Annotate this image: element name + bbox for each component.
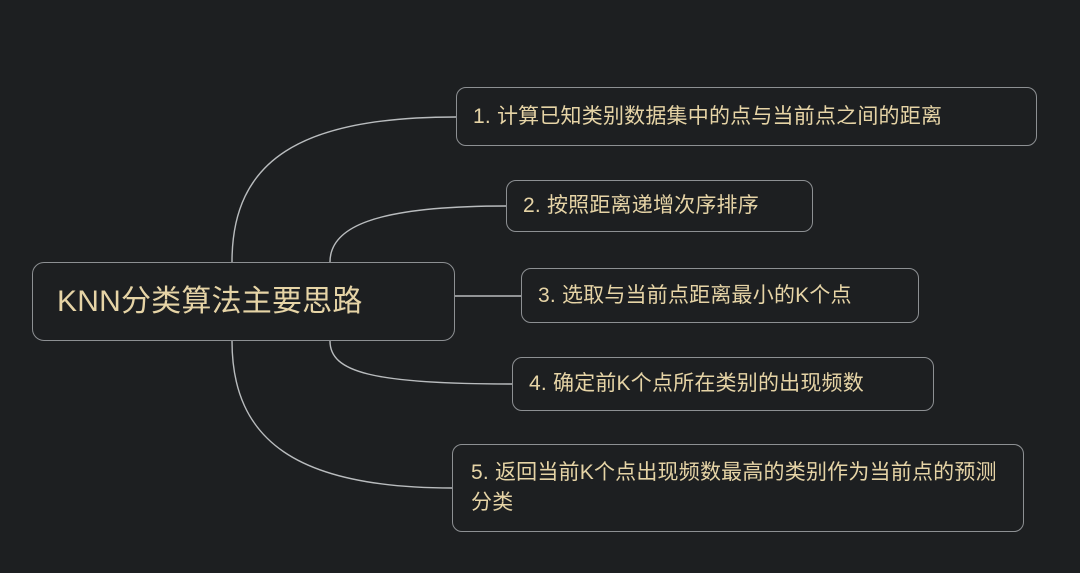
connector-root-to-branch-1	[232, 117, 456, 262]
branch-node-3-label: 3. 选取与当前点距离最小的K个点	[538, 281, 902, 311]
branch-node-2[interactable]: 2. 按照距离递增次序排序	[506, 180, 813, 232]
branch-node-3[interactable]: 3. 选取与当前点距离最小的K个点	[521, 268, 919, 323]
branch-node-5[interactable]: 5. 返回当前K个点出现频数最高的类别作为当前点的预测分类	[452, 444, 1024, 532]
connector-root-to-branch-2	[330, 206, 506, 262]
root-node-label: KNN分类算法主要思路	[57, 283, 430, 321]
connector-root-to-branch-4	[330, 341, 512, 384]
connector-root-to-branch-5	[232, 341, 452, 488]
root-node[interactable]: KNN分类算法主要思路	[32, 262, 455, 341]
branch-node-4-label: 4. 确定前K个点所在类别的出现频数	[529, 369, 917, 399]
branch-node-2-label: 2. 按照距离递增次序排序	[523, 191, 796, 221]
branch-node-4[interactable]: 4. 确定前K个点所在类别的出现频数	[512, 357, 934, 411]
branch-node-5-label: 5. 返回当前K个点出现频数最高的类别作为当前点的预测分类	[471, 458, 1005, 518]
branch-node-1-label: 1. 计算已知类别数据集中的点与当前点之间的距离	[473, 102, 1020, 132]
mindmap-canvas: KNN分类算法主要思路 1. 计算已知类别数据集中的点与当前点之间的距离 2. …	[0, 0, 1080, 573]
branch-node-1[interactable]: 1. 计算已知类别数据集中的点与当前点之间的距离	[456, 87, 1037, 146]
